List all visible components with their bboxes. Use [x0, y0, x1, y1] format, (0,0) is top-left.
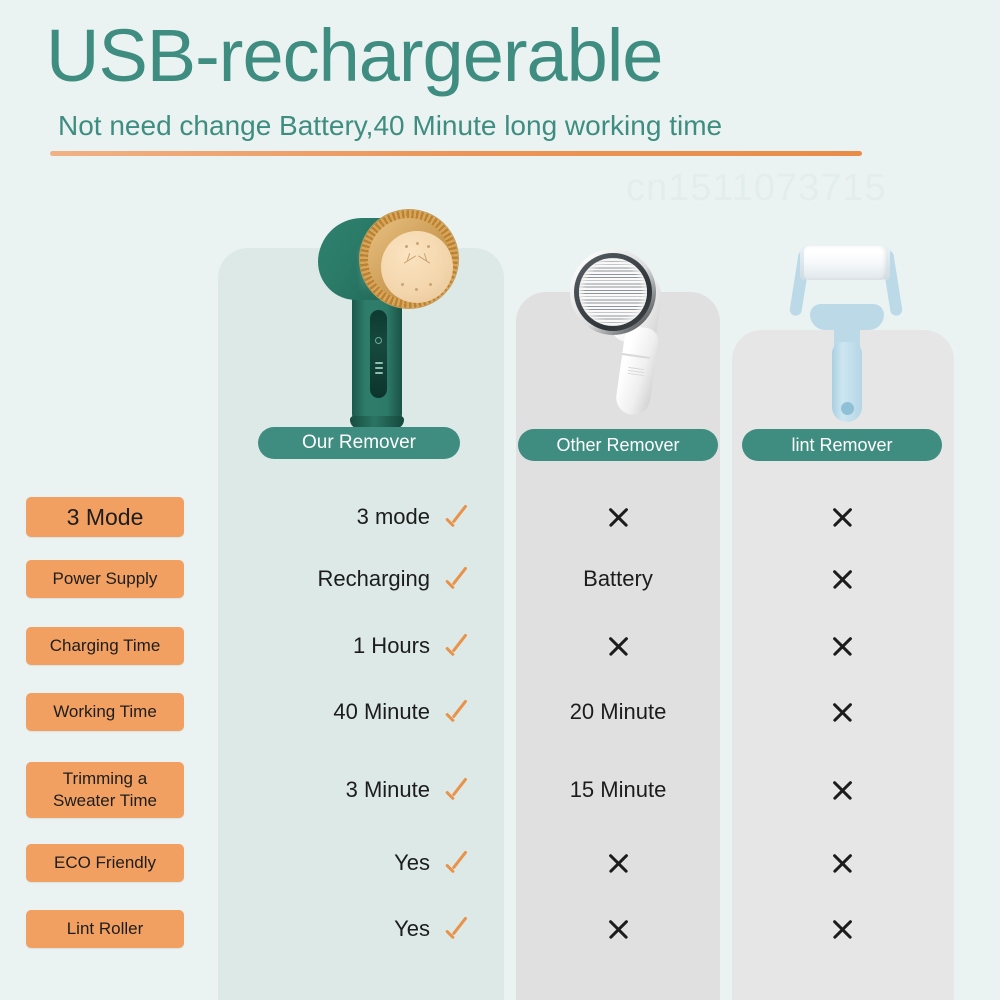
- shaver-power-button: [375, 337, 382, 344]
- shaver-ring-inner: [368, 218, 450, 300]
- blue-lint-roller-image: [786, 232, 908, 428]
- check-icon: [444, 566, 470, 592]
- feature-label-power-supply[interactable]: Power Supply: [26, 560, 184, 598]
- cell-other-row-1: [518, 500, 718, 534]
- check-icon: [444, 633, 470, 659]
- feature-label-text: Working Time: [53, 702, 157, 722]
- column-header-lint-remover[interactable]: lint Remover: [742, 429, 942, 461]
- check-icon: [444, 699, 470, 725]
- mesh-dot: [415, 288, 418, 291]
- cell-lint-row-4: [742, 695, 942, 729]
- feature-label-text-line2: Sweater Time: [53, 790, 157, 812]
- shaver-indicator: [375, 367, 383, 369]
- cell-lint-row-5: [742, 773, 942, 807]
- shaver-indicator: [375, 372, 383, 374]
- column-header-our-remover[interactable]: Our Remover: [258, 427, 460, 459]
- mesh-dot: [405, 245, 408, 248]
- cell-lint-row-7: [742, 912, 942, 946]
- cross-icon: [829, 777, 855, 803]
- watermark-text: cn1511073715: [626, 166, 887, 210]
- column-header-other-remover[interactable]: Other Remover: [518, 429, 718, 461]
- cell-lint-row-1: [742, 500, 942, 534]
- white-lint-shaver-image: [562, 243, 690, 429]
- cell-our-row-2: Recharging: [258, 562, 470, 596]
- lint-shaver-mesh: [579, 258, 647, 326]
- cross-icon: [605, 916, 631, 942]
- cell-value: 3 Minute: [346, 777, 430, 803]
- blade-line: [404, 255, 417, 264]
- cell-value: Yes: [394, 916, 430, 942]
- feature-label-trimming-a[interactable]: Trimming aSweater Time: [26, 762, 184, 818]
- green-fabric-shaver-image: [286, 200, 466, 428]
- cell-our-row-1: 3 mode: [258, 500, 470, 534]
- check-icon: [444, 504, 470, 530]
- feature-label-3-mode[interactable]: 3 Mode: [26, 497, 184, 537]
- shaver-control-panel: [370, 310, 387, 398]
- roller-hang-hole: [841, 402, 854, 415]
- header-banner: USB-rechargerable Not need change Batter…: [0, 0, 1000, 175]
- cross-icon: [829, 566, 855, 592]
- cell-other-row-2: Battery: [518, 562, 718, 596]
- feature-label-lint-roller[interactable]: Lint Roller: [26, 910, 184, 948]
- feature-label-text: Power Supply: [53, 569, 158, 589]
- cross-icon: [829, 633, 855, 659]
- cell-other-row-7: [518, 912, 718, 946]
- cell-other-row-3: [518, 629, 718, 663]
- mesh-dot: [429, 283, 432, 286]
- cell-our-row-3: 1 Hours: [258, 629, 470, 663]
- cross-icon: [605, 633, 631, 659]
- shaver-indicator: [375, 362, 383, 364]
- cross-icon: [605, 504, 631, 530]
- cell-value: Battery: [583, 566, 653, 592]
- cross-icon: [829, 504, 855, 530]
- feature-label-text: Trimming aSweater Time: [53, 768, 157, 812]
- feature-label-eco-friendly[interactable]: ECO Friendly: [26, 844, 184, 882]
- check-icon: [444, 777, 470, 803]
- cell-our-row-7: Yes: [258, 912, 470, 946]
- cell-value: 3 mode: [357, 504, 430, 530]
- mesh-dot: [416, 242, 419, 245]
- cell-our-row-5: 3 Minute: [258, 773, 470, 807]
- header-divider: [50, 151, 862, 156]
- feature-label-charging-time[interactable]: Charging Time: [26, 627, 184, 665]
- cell-value: 15 Minute: [570, 777, 667, 803]
- cell-value: 40 Minute: [333, 699, 430, 725]
- cross-icon: [605, 850, 631, 876]
- mesh-dot: [401, 283, 404, 286]
- cell-our-row-4: 40 Minute: [258, 695, 470, 729]
- feature-label-text: ECO Friendly: [54, 853, 156, 873]
- lint-shaver-head: [570, 249, 656, 335]
- cell-our-row-6: Yes: [258, 846, 470, 880]
- cell-other-row-6: [518, 846, 718, 880]
- shaver-gold-ring: [360, 210, 458, 308]
- cell-other-row-4: 20 Minute: [518, 695, 718, 729]
- cross-icon: [829, 699, 855, 725]
- cell-lint-row-3: [742, 629, 942, 663]
- cell-value: Yes: [394, 850, 430, 876]
- feature-label-text: 3 Mode: [67, 507, 144, 527]
- cell-lint-row-2: [742, 562, 942, 596]
- lint-shaver-head-ring: [574, 253, 652, 331]
- lint-shaver-mesh-mask: [579, 258, 647, 326]
- cell-other-row-5: 15 Minute: [518, 773, 718, 807]
- cross-icon: [829, 850, 855, 876]
- page-subtitle: Not need change Battery,40 Minute long w…: [58, 110, 722, 142]
- cell-value: 1 Hours: [353, 633, 430, 659]
- feature-label-text: Lint Roller: [67, 919, 144, 939]
- shaver-mesh-head: [381, 231, 453, 303]
- page-title: USB-rechargerable: [46, 16, 662, 96]
- cross-icon: [829, 916, 855, 942]
- check-icon: [444, 850, 470, 876]
- check-icon: [444, 916, 470, 942]
- mesh-dot: [427, 245, 430, 248]
- feature-label-text: Charging Time: [50, 636, 161, 656]
- feature-label-working-time[interactable]: Working Time: [26, 693, 184, 731]
- cell-lint-row-6: [742, 846, 942, 880]
- roller-drum: [804, 246, 886, 280]
- cell-value: Recharging: [317, 566, 430, 592]
- cell-value: 20 Minute: [570, 699, 667, 725]
